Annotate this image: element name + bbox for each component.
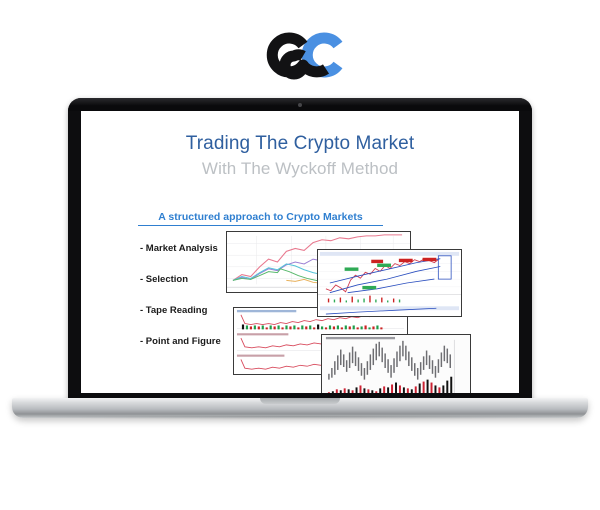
laptop-mockup: Trading The Crypto Market With The Wycko…	[0, 88, 600, 428]
chart-thumbnail-point-and-figure	[321, 334, 471, 393]
presentation-slide: Trading The Crypto Market With The Wycko…	[81, 111, 519, 393]
laptop-base-shadow	[12, 416, 588, 420]
wyckoff-chart-svg	[318, 250, 461, 316]
webcam-icon	[298, 103, 302, 107]
laptop-screen: Trading The Crypto Market With The Wycko…	[81, 111, 519, 393]
chart-thumbnail-wyckoff	[317, 249, 462, 317]
panel-1-title	[237, 310, 296, 312]
slide-subtitle: With The Wyckoff Method	[81, 159, 519, 179]
annotation-red	[371, 260, 383, 263]
brand-logo	[0, 22, 600, 88]
annotation-red	[399, 259, 413, 262]
annotation-green	[362, 286, 376, 289]
annotation-red	[423, 258, 437, 261]
laptop-base-notch	[260, 398, 340, 404]
panel-3-title	[237, 355, 284, 357]
chart-footer-bar	[320, 306, 459, 310]
chart-header-bar	[320, 252, 459, 256]
laptop-base	[12, 398, 588, 418]
laptop-top-bezel	[68, 98, 532, 111]
slide-heading: A structured approach to Crypto Markets	[138, 211, 383, 225]
slide-heading-underline	[138, 225, 383, 226]
slide-title: Trading The Crypto Market	[81, 133, 519, 155]
gc-infinity-logo-icon	[256, 29, 344, 81]
annotation-green	[377, 264, 391, 267]
slide-heading-group: A structured approach to Crypto Markets	[138, 211, 383, 226]
panel-2-title	[237, 333, 288, 335]
annotation-green	[345, 267, 359, 270]
logo-dark-spiral	[272, 38, 303, 74]
laptop-lid: Trading The Crypto Market With The Wycko…	[68, 98, 532, 406]
point-and-figure-chart-svg	[322, 335, 470, 393]
chart-title-bar	[326, 337, 395, 339]
